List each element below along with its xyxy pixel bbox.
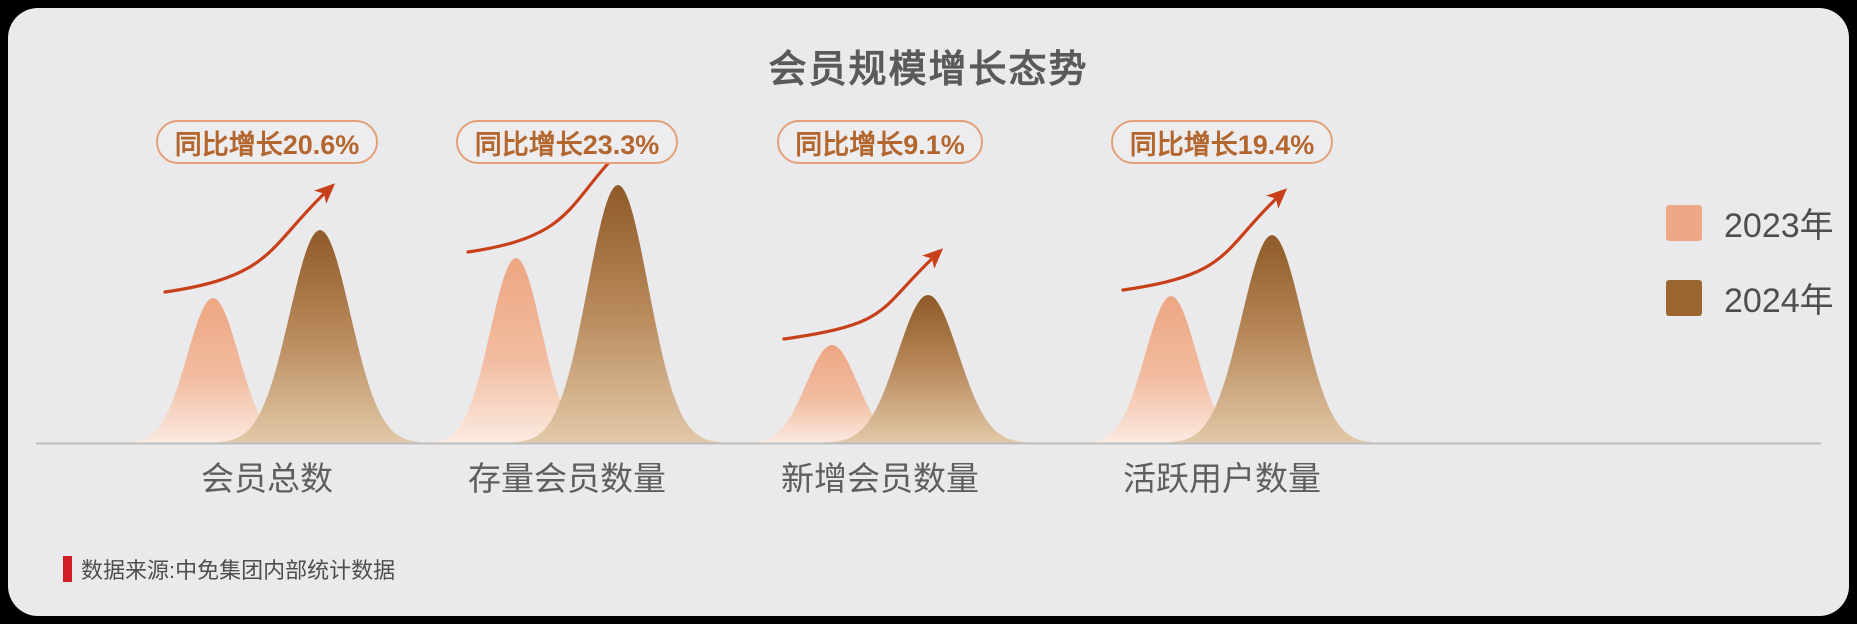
chart-card: 会员规模增长态势 同比增长20.6%同比增长23.3%同比增长9.1%同比增长1… xyxy=(8,8,1849,616)
growth-badge-0: 同比增长20.6% xyxy=(156,120,378,164)
growth-badge-1: 同比增长23.3% xyxy=(456,120,678,164)
legend-swatch-2024 xyxy=(1666,280,1702,316)
legend: 2023年 2024年 xyxy=(1666,198,1834,348)
growth-badge-2: 同比增长9.1% xyxy=(777,120,983,164)
category-label-0: 会员总数 xyxy=(201,452,333,500)
legend-item-2024[interactable]: 2024年 xyxy=(1666,273,1834,322)
source-note: 数据来源:中免集团内部统计数据 xyxy=(63,553,395,585)
category-label-2: 新增会员数量 xyxy=(781,452,979,500)
growth-badge-3: 同比增长19.4% xyxy=(1111,120,1333,164)
mountain-chart-plot xyxy=(8,8,1849,616)
category-label-1: 存量会员数量 xyxy=(468,452,666,500)
source-text: 数据来源:中免集团内部统计数据 xyxy=(81,553,395,585)
legend-label-2023: 2023年 xyxy=(1724,198,1834,247)
red-bar-icon xyxy=(63,556,72,582)
legend-item-2023[interactable]: 2023年 xyxy=(1666,198,1834,247)
legend-label-2024: 2024年 xyxy=(1724,273,1834,322)
category-label-3: 活跃用户数量 xyxy=(1123,452,1321,500)
legend-swatch-2023 xyxy=(1666,205,1702,241)
